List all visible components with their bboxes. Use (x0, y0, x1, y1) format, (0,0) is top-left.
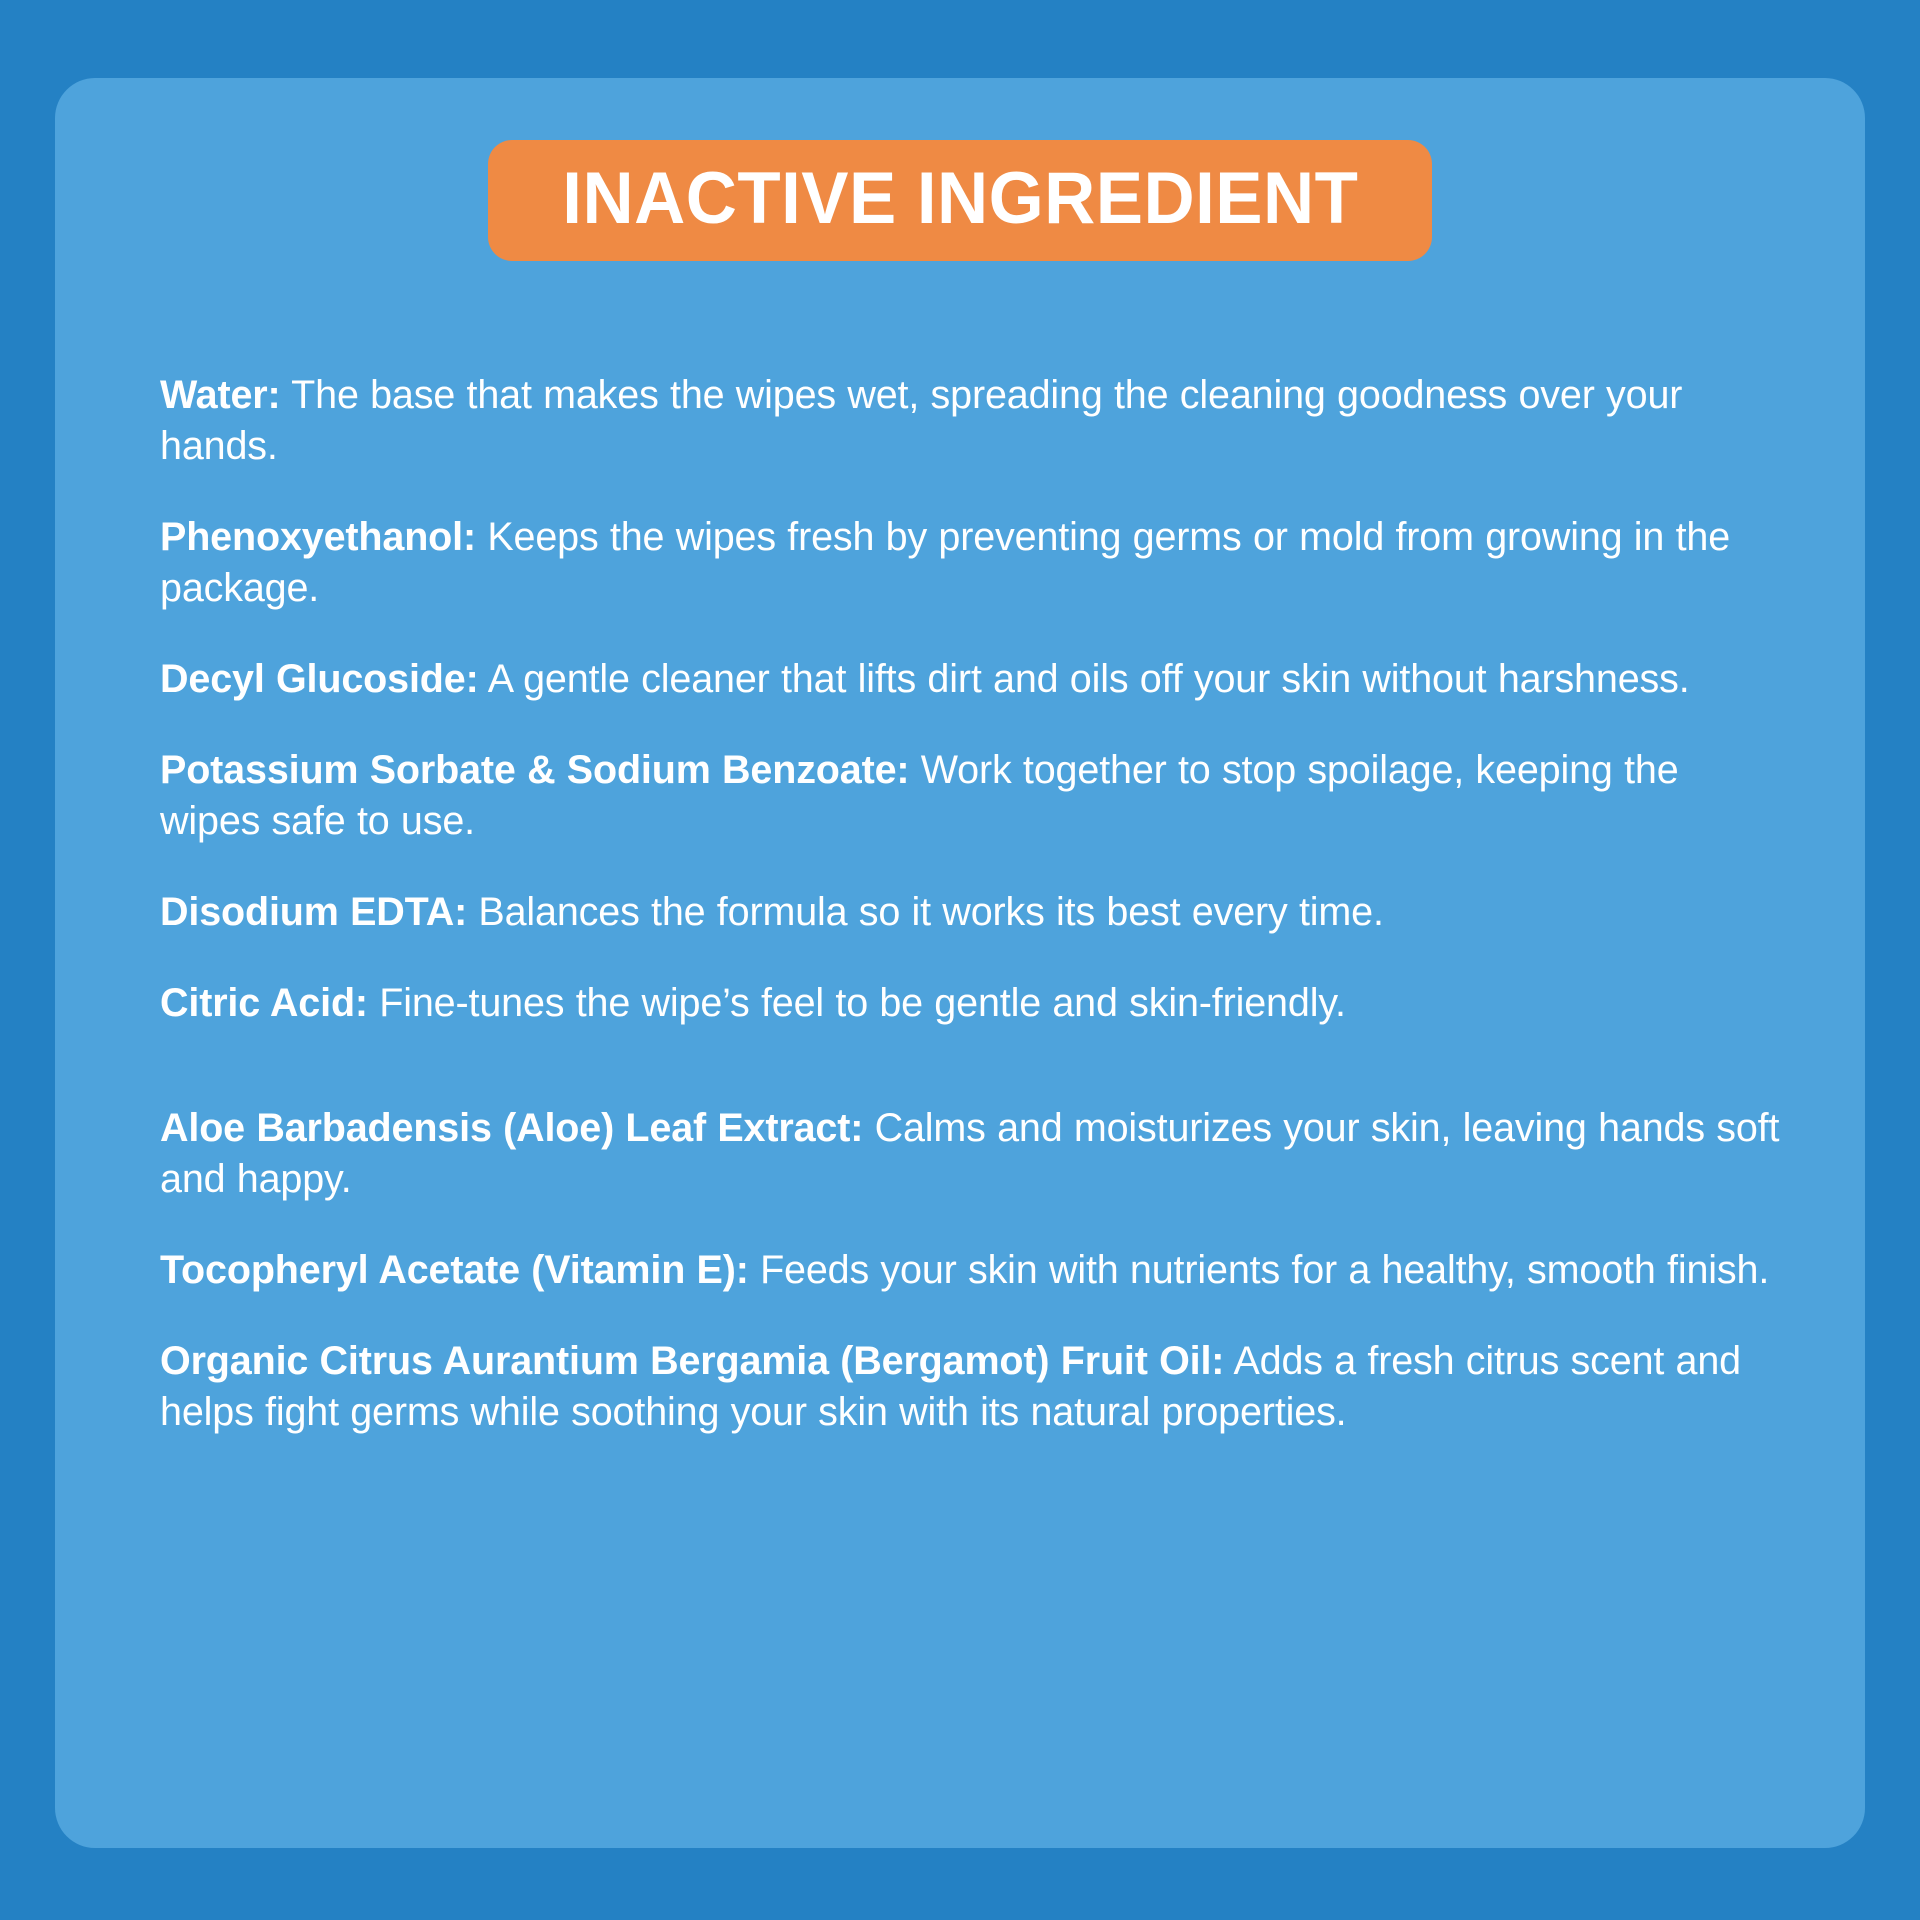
ingredient-name: Organic Citrus Aurantium Bergamia (Berga… (160, 1339, 1224, 1383)
ingredient-item: Organic Citrus Aurantium Bergamia (Berga… (160, 1336, 1790, 1439)
ingredient-item: Phenoxyethanol: Keeps the wipes fresh by… (160, 512, 1790, 615)
ingredient-name: Decyl Glucoside: (160, 657, 479, 701)
page-title: INACTIVE INGREDIENT (562, 162, 1358, 235)
ingredient-description: The base that makes the wipes wet, sprea… (160, 373, 1682, 468)
ingredient-name: Water: (160, 373, 281, 417)
content-card: INACTIVE INGREDIENT Water: The base that… (55, 78, 1865, 1848)
ingredient-name: Aloe Barbadensis (Aloe) Leaf Extract: (160, 1106, 863, 1150)
ingredient-item: Aloe Barbadensis (Aloe) Leaf Extract: Ca… (160, 1103, 1790, 1206)
ingredient-item: Potassium Sorbate & Sodium Benzoate: Wor… (160, 745, 1790, 848)
ingredient-item: Disodium EDTA: Balances the formula so i… (160, 887, 1790, 938)
ingredient-description: Fine-tunes the wipe’s feel to be gentle … (379, 981, 1346, 1025)
banner-container: INACTIVE INGREDIENT (55, 140, 1865, 261)
ingredient-name: Potassium Sorbate & Sodium Benzoate: (160, 748, 909, 792)
page-root: INACTIVE INGREDIENT Water: The base that… (0, 0, 1920, 1920)
ingredient-item: Citric Acid: Fine-tunes the wipe’s feel … (160, 978, 1790, 1029)
ingredient-list: Water: The base that makes the wipes wet… (160, 330, 1790, 1465)
ingredient-item: Tocopheryl Acetate (Vitamin E): Feeds yo… (160, 1245, 1790, 1296)
ingredient-description: Feeds your skin with nutrients for a hea… (760, 1248, 1769, 1292)
ingredient-item: Water: The base that makes the wipes wet… (160, 370, 1790, 473)
ingredient-item: Decyl Glucoside: A gentle cleaner that l… (160, 654, 1790, 705)
ingredient-name: Tocopheryl Acetate (Vitamin E): (160, 1248, 749, 1292)
ingredient-description: A gentle cleaner that lifts dirt and oil… (488, 657, 1690, 701)
ingredient-name: Disodium EDTA: (160, 890, 467, 934)
ingredient-name: Phenoxyethanol: (160, 515, 476, 559)
inactive-ingredient-banner: INACTIVE INGREDIENT (488, 140, 1433, 261)
ingredient-name: Citric Acid: (160, 981, 368, 1025)
ingredient-description: Balances the formula so it works its bes… (478, 890, 1383, 934)
